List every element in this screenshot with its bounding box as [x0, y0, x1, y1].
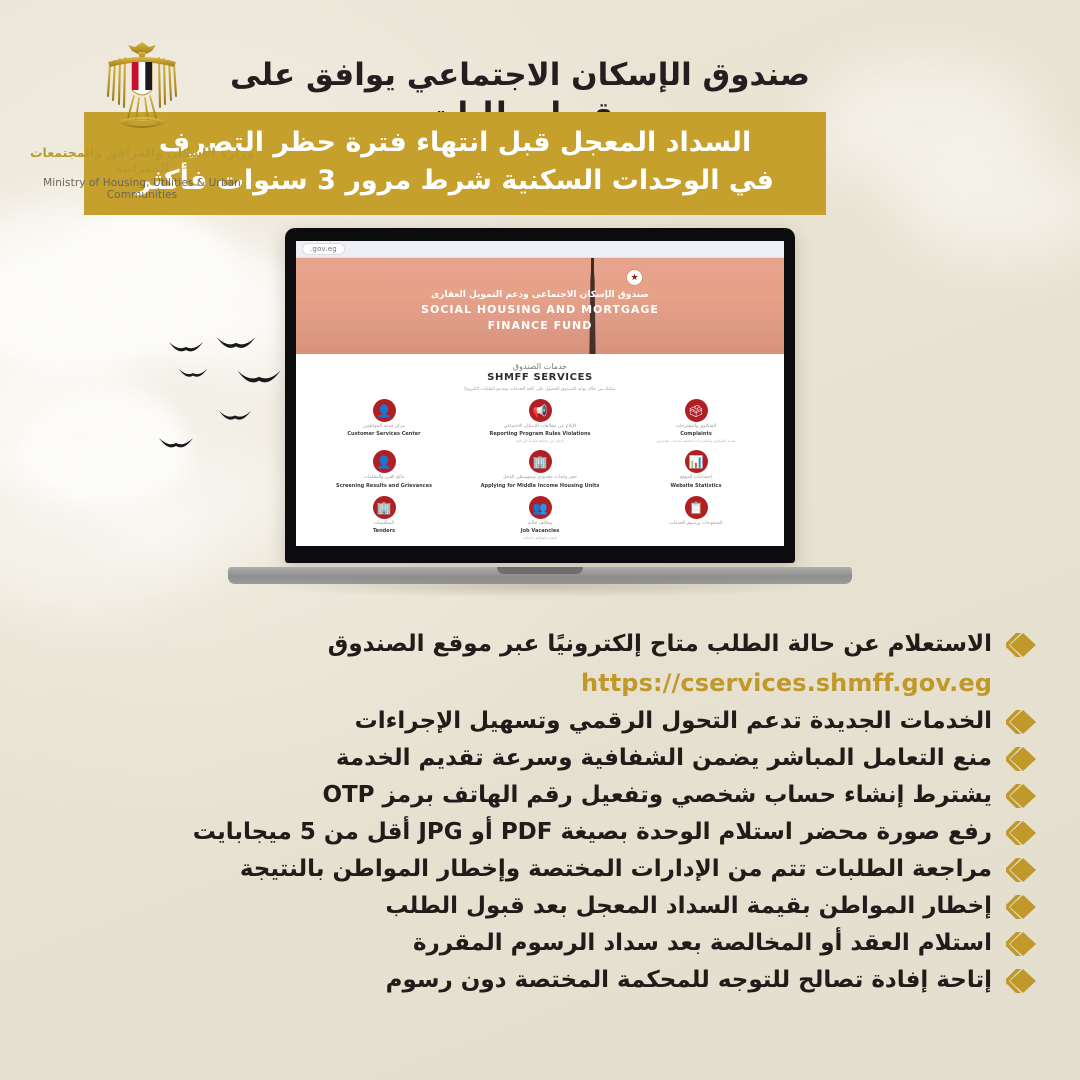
service-label-arabic: المدفوعات ورسوم الخدمات	[631, 521, 761, 527]
key-point-row: يشترط إنشاء حساب شخصي وتفعيل رقم الهاتف …	[14, 777, 1066, 814]
key-point-row: استلام العقد أو المخالصة بعد سداد الرسوم…	[14, 925, 1066, 962]
key-point-text: استلام العقد أو المخالصة بعد سداد الرسوم…	[413, 930, 992, 958]
jobs-icon[interactable]: 👥	[529, 496, 552, 519]
ministry-name-english: Ministry of Housing, Utilities & Urban C…	[22, 177, 262, 201]
gold-double-diamond-icon	[1006, 783, 1050, 809]
key-point-row: رفع صورة محضر استلام الوحدة بصيغة PDF أو…	[14, 814, 1066, 851]
service-label-arabic: الإبلاغ عن مخالفات الإسكان الاجتماعي	[475, 424, 605, 430]
site-services-section: خدمات الصندوق SHMFF SERVICES يمكنك من خل…	[296, 354, 784, 540]
customer-service-icon[interactable]: 👤	[373, 399, 396, 422]
gold-double-diamond-icon	[1006, 820, 1050, 846]
service-label-arabic: المناقصات	[319, 521, 449, 527]
tenders-icon[interactable]: 🏢	[373, 496, 396, 519]
service-label-english: Complaints	[631, 431, 761, 438]
key-points-list: الاستعلام عن حالة الطلب متاح إلكترونيًا …	[14, 626, 1066, 999]
key-point-row: الخدمات الجديدة تدعم التحول الرقمي وتسهي…	[14, 703, 1066, 740]
bird-icon	[168, 340, 204, 359]
key-point-text: إخطار المواطن بقيمة السداد المعجل بعد قب…	[385, 893, 992, 921]
key-point-row: منع التعامل المباشر يضمن الشفافية وسرعة …	[14, 740, 1066, 777]
screening-results-icon[interactable]: 👤	[373, 450, 396, 473]
ministry-logo-block: وزارة الإسكان والمرافق والمجتمعات العمرا…	[22, 36, 262, 201]
service-card[interactable]: 📊إحصائيات الموقعWebsite Statistics	[631, 450, 761, 489]
bird-icon	[178, 365, 208, 384]
housing-application-icon[interactable]: 🏢	[529, 450, 552, 473]
service-card[interactable]: 👤مركز خدمة المواطنينCustomer Services Ce…	[319, 399, 449, 443]
service-label-english: Website Statistics	[631, 483, 761, 490]
key-point-row: إتاحة إفادة تصالح للتوجه للمحكمة المختصة…	[14, 962, 1066, 999]
key-point-text: رفع صورة محضر استلام الوحدة بصيغة PDF أو…	[193, 819, 992, 847]
statistics-icon[interactable]: 📊	[685, 450, 708, 473]
service-label-arabic: مركز خدمة المواطنين	[319, 424, 449, 430]
service-label-arabic: نتائج الفرز والتظلمات	[319, 475, 449, 481]
service-url-link[interactable]: https://cservices.shmff.gov.eg	[581, 669, 992, 697]
megaphone-icon[interactable]: 📢	[529, 399, 552, 422]
laptop-shadow	[260, 574, 820, 598]
bird-icon	[158, 435, 194, 456]
gold-double-diamond-icon	[1006, 894, 1050, 920]
key-point-text: مراجعة الطلبات تتم من الإدارات المختصة و…	[240, 856, 992, 884]
laptop-mockup: .gov.eg ★ صندوق الإسكان الاجتماعى ودعم ا…	[228, 228, 852, 598]
service-label-english: Applying for Middle Income Housing Units	[475, 483, 605, 490]
key-point-row: الاستعلام عن حالة الطلب متاح إلكترونيًا …	[14, 626, 1066, 663]
service-card[interactable]: 📋المدفوعات ورسوم الخدمات	[631, 496, 761, 540]
ministry-name-arabic: وزارة الإسكان والمرافق والمجتمعات العمرا…	[22, 145, 262, 175]
service-card[interactable]: 📢الإبلاغ عن مخالفات الإسكان الاجتماعيRep…	[475, 399, 605, 443]
gold-double-diamond-icon	[1006, 746, 1050, 772]
service-label-arabic: حجز وحدات محدودي ومتوسطي الدخل	[475, 475, 605, 481]
services-title-english: SHMFF SERVICES	[306, 372, 774, 383]
infographic-poster: صندوق الإسكان الاجتماعي يوافق على قبول ط…	[0, 0, 1080, 1080]
site-hero-title-english-line2: FINANCE FUND	[296, 318, 784, 334]
service-label-arabic: إحصائيات الموقع	[631, 475, 761, 481]
key-point-text: منع التعامل المباشر يضمن الشفافية وسرعة …	[336, 745, 992, 773]
service-note: الإبلاغ عن مخالفة قواعد البرنامج	[475, 439, 605, 444]
site-hero-title-arabic: صندوق الإسكان الاجتماعى ودعم التمويل الع…	[296, 290, 784, 300]
browser-address-bar[interactable]: .gov.eg	[296, 241, 784, 258]
site-hero-banner: ★ صندوق الإسكان الاجتماعى ودعم التمويل ا…	[296, 258, 784, 354]
key-point-text: الخدمات الجديدة تدعم التحول الرقمي وتسهي…	[355, 708, 992, 736]
payments-icon[interactable]: 📋	[685, 496, 708, 519]
service-card[interactable]: 🏢حجز وحدات محدودي ومتوسطي الدخلApplying …	[475, 450, 605, 489]
service-label-arabic: وظائف خالية	[475, 521, 605, 527]
service-url-row[interactable]: https://cservices.shmff.gov.eg	[14, 663, 1066, 703]
key-point-row: إخطار المواطن بقيمة السداد المعجل بعد قب…	[14, 888, 1066, 925]
gold-double-diamond-icon	[1006, 857, 1050, 883]
service-label-english: Job Vacancies	[475, 528, 605, 535]
service-card[interactable]: 🏢المناقصاتTenders	[319, 496, 449, 540]
service-note: تقديم الشكاوى والمقترحات الخاصة بخدمات ا…	[631, 439, 761, 444]
service-label-english: Tenders	[319, 528, 449, 535]
service-label-english: Customer Services Center	[319, 431, 449, 438]
browser-url-text[interactable]: .gov.eg	[302, 243, 345, 255]
laptop-lid: .gov.eg ★ صندوق الإسكان الاجتماعى ودعم ا…	[285, 228, 795, 563]
site-hero-title-english-line1: SOCIAL HOUSING AND MORTGAGE	[296, 302, 784, 318]
service-note: التقدم للوظائف الخالية	[475, 536, 605, 541]
services-subtitle: يمكنك من خلال بوابة الصندوق الحصول على ك…	[306, 387, 774, 392]
key-point-text: يشترط إنشاء حساب شخصي وتفعيل رقم الهاتف …	[322, 782, 992, 810]
services-grid: 🗳الشكاوى والمقترحاتComplaintsتقديم الشكا…	[306, 399, 774, 540]
service-card[interactable]: 👥وظائف خاليةJob Vacanciesالتقدم للوظائف …	[475, 496, 605, 540]
key-point-row: مراجعة الطلبات تتم من الإدارات المختصة و…	[14, 851, 1066, 888]
service-label-english: Reporting Program Rules Violations	[475, 431, 605, 438]
service-label-arabic: الشكاوى والمقترحات	[631, 424, 761, 430]
shmff-seal-icon: ★	[626, 269, 643, 286]
complaints-icon[interactable]: 🗳	[685, 399, 708, 422]
key-point-text: إتاحة إفادة تصالح للتوجه للمحكمة المختصة…	[386, 967, 992, 995]
egypt-eagle-emblem-icon	[22, 36, 262, 140]
laptop-notch	[497, 567, 583, 574]
gold-double-diamond-icon	[1006, 709, 1050, 735]
gold-double-diamond-icon	[1006, 931, 1050, 957]
key-point-text: الاستعلام عن حالة الطلب متاح إلكترونيًا …	[328, 631, 992, 659]
service-label-english: Screening Results and Grievances	[319, 483, 449, 490]
gold-double-diamond-icon	[1006, 632, 1050, 658]
service-card[interactable]: 👤نتائج الفرز والتظلماتScreening Results …	[319, 450, 449, 489]
service-card[interactable]: 🗳الشكاوى والمقترحاتComplaintsتقديم الشكا…	[631, 399, 761, 443]
laptop-screen: .gov.eg ★ صندوق الإسكان الاجتماعى ودعم ا…	[296, 241, 784, 546]
gold-double-diamond-icon	[1006, 968, 1050, 994]
services-title-arabic: خدمات الصندوق	[306, 362, 774, 371]
cairo-tower-antenna-icon	[591, 258, 594, 270]
